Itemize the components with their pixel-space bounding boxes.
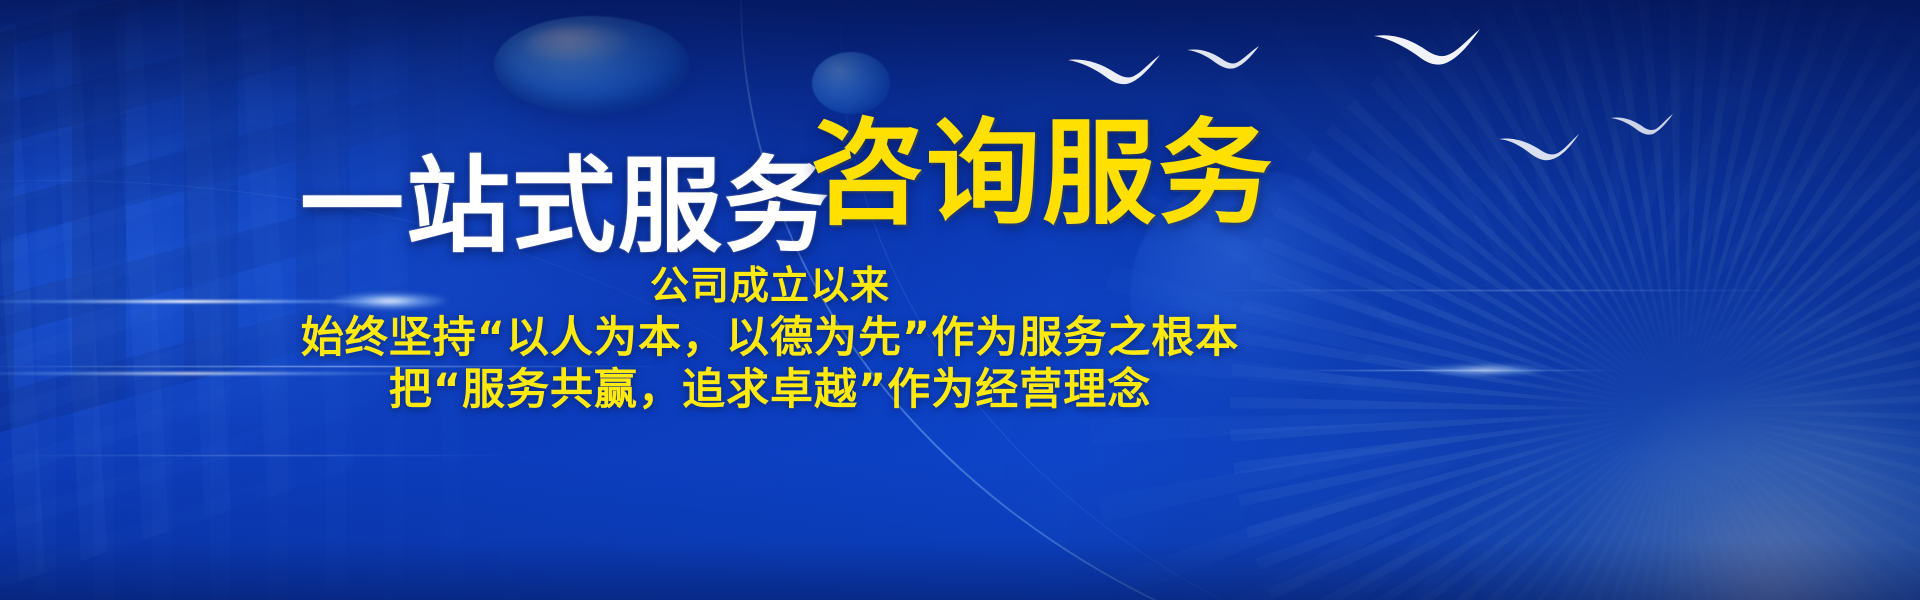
subtitle-line-2: 始终坚持“以人为本，以德为先”作为服务之根本	[0, 312, 1540, 364]
headline-yellow-text: 咨询服务	[810, 116, 1274, 230]
subtitle-line-1: 公司成立以来	[0, 262, 1540, 312]
subtitle-block: 公司成立以来 始终坚持“以人为本，以德为先”作为服务之根本 把“服务共赢，追求卓…	[0, 262, 1540, 416]
service-banner: 一站式服务 咨询服务 公司成立以来 始终坚持“以人为本，以德为先”作为服务之根本…	[0, 0, 1920, 600]
headline-white-text: 一站式服务	[300, 154, 830, 258]
headline-row: 一站式服务 咨询服务	[0, 58, 1920, 228]
light-streak-bottom-left	[0, 455, 520, 456]
subtitle-line-3: 把“服务共赢，追求卓越”作为经营理念	[0, 364, 1540, 416]
